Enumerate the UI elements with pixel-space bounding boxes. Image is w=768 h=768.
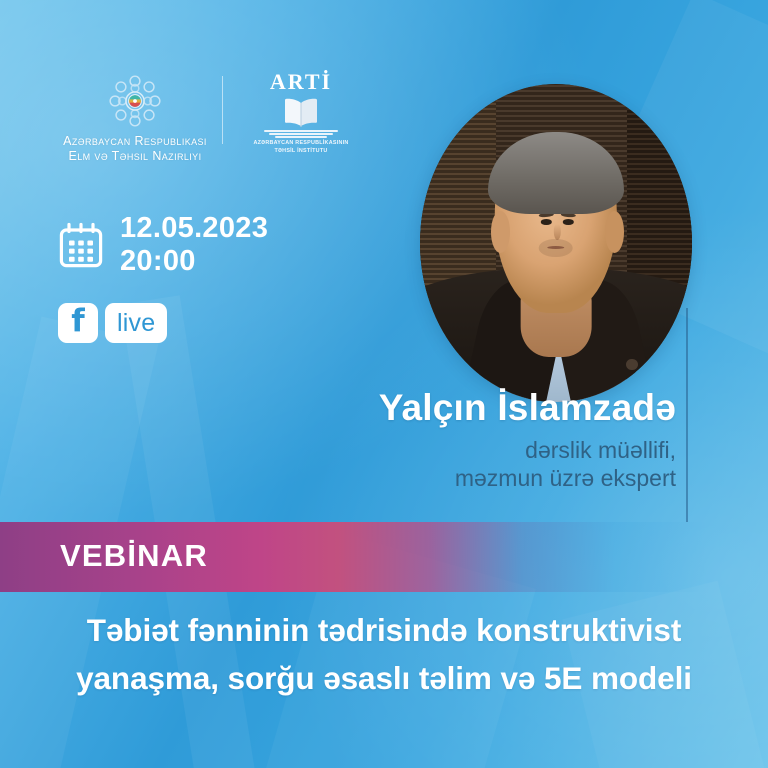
facebook-live-badge[interactable]: f live bbox=[58, 303, 167, 343]
event-time: 20:00 bbox=[120, 245, 268, 278]
speaker-role-line2: məzmun üzrə ekspert bbox=[256, 464, 676, 492]
logo-divider bbox=[222, 76, 223, 144]
ministry-name: Azərbaycan Respublikası Elm və Təhsil Na… bbox=[36, 134, 234, 164]
vertical-accent-line bbox=[686, 308, 688, 522]
ministry-name-line1: Azərbaycan Respublikası bbox=[36, 134, 234, 149]
speaker-role: dərslik müəllifi, məzmun üzrə ekspert bbox=[256, 436, 676, 492]
speaker-portrait bbox=[420, 84, 692, 402]
vebinar-label: VEBİNAR bbox=[60, 538, 208, 574]
ministry-name-line2: Elm və Təhsil Nazirliyi bbox=[36, 149, 234, 164]
speaker-info: Yalçın İslamzadə dərslik müəllifi, məzmu… bbox=[256, 386, 676, 492]
speaker-name: Yalçın İslamzadə bbox=[256, 386, 676, 430]
header-logos: Azərbaycan Respublikası Elm və Təhsil Na… bbox=[0, 72, 400, 164]
facebook-f-glyph: f bbox=[71, 306, 85, 337]
speaker-role-line1: dərslik müəllifi, bbox=[256, 436, 676, 464]
event-date: 12.05.2023 bbox=[120, 212, 268, 245]
event-datetime-text: 12.05.2023 20:00 bbox=[120, 212, 268, 278]
webinar-poster: Azərbaycan Respublikası Elm və Təhsil Na… bbox=[0, 0, 768, 768]
live-label: live bbox=[117, 311, 155, 336]
arti-subtitle-line1: AZƏRBAYCAN RESPUBLİKASININ bbox=[236, 140, 366, 147]
arti-subtitle-line2: TƏHSİL İNSTİTUTU bbox=[236, 148, 366, 155]
calendar-icon bbox=[58, 221, 104, 269]
arti-wordmark: ARTİ bbox=[236, 70, 366, 94]
live-badge[interactable]: live bbox=[105, 303, 167, 343]
azerbaijan-state-emblem-icon bbox=[106, 72, 164, 130]
webinar-title-line2: yanaşma, sorğu əsaslı təlim və 5E modeli bbox=[34, 654, 734, 702]
webinar-title: Təbiət fənninin tədrisində konstruktivis… bbox=[0, 606, 768, 702]
arti-underline-lines bbox=[264, 130, 338, 139]
webinar-title-line1: Təbiət fənninin tədrisində konstruktivis… bbox=[34, 606, 734, 654]
ministry-logo: Azərbaycan Respublikası Elm və Təhsil Na… bbox=[36, 72, 234, 164]
arti-logo: ARTİ AZƏRBAYCAN RESPUBLİKASININ TƏHSİL İ… bbox=[236, 70, 366, 155]
event-datetime: 12.05.2023 20:00 bbox=[58, 212, 268, 278]
facebook-f-icon[interactable]: f bbox=[58, 303, 98, 343]
open-book-icon bbox=[276, 96, 326, 128]
